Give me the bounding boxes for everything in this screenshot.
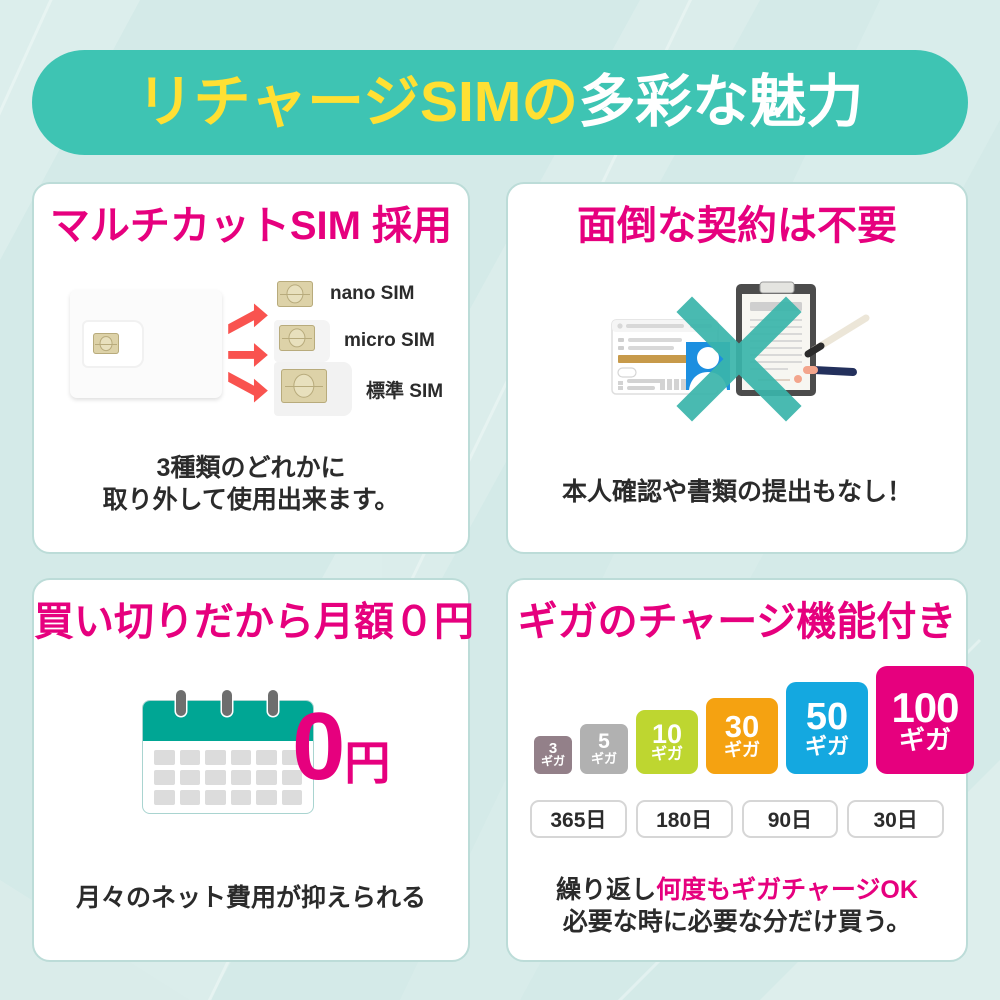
- giga-badge-number: 5: [598, 732, 610, 753]
- calendar-day-grid: [143, 741, 313, 814]
- sim-punch-outline: [84, 322, 142, 366]
- giga-options-illustration: 3 ギガ 5 ギガ 10 ギガ 30 ギガ 50 ギガ: [508, 672, 966, 852]
- nano-sim-icon: [274, 278, 316, 310]
- giga-badge-row: 3 ギガ 5 ギガ 10 ギガ 30 ギガ 50 ギガ: [534, 666, 940, 774]
- giga-badge-100[interactable]: 100 ギガ: [876, 666, 974, 774]
- sim-illustration: nano SIM micro SIM 標準 SIM: [34, 272, 468, 432]
- card-title-no-contract: 面倒な契約は不要: [508, 206, 966, 246]
- caption-plain: 繰り返し: [556, 876, 656, 904]
- duration-pill-30[interactable]: 30日: [847, 800, 944, 838]
- sim-option-nano: nano SIM: [274, 278, 414, 310]
- price-unit: 円: [344, 743, 390, 784]
- calendar-ring-icon: [222, 690, 232, 716]
- arrow-to-nano-icon: [228, 303, 268, 334]
- sim-chip-icon: [93, 333, 119, 354]
- nano-sim-label: nano SIM: [330, 283, 414, 305]
- giga-badge-unit: ギガ: [651, 747, 683, 763]
- calendar-illustration: 0 円: [34, 676, 468, 836]
- duration-pill-365[interactable]: 365日: [530, 800, 627, 838]
- standard-sim-icon: [274, 362, 352, 416]
- micro-sim-label: micro SIM: [344, 330, 435, 352]
- giga-badge-30[interactable]: 30 ギガ: [706, 698, 778, 774]
- giga-badge-unit: ギガ: [899, 728, 951, 753]
- card-caption-zero-monthly: 月々のネット費用が抑えられる: [34, 882, 468, 914]
- calendar-icon: [142, 690, 314, 814]
- documents-illustration: [508, 280, 966, 430]
- giga-badge-unit: ギガ: [724, 742, 760, 760]
- caption-line-2: 取り外して使用出来ます。: [34, 484, 468, 516]
- card-giga-charge: ギガのチャージ機能付き 3 ギガ 5 ギガ 10 ギガ 30 ギガ: [506, 578, 968, 962]
- card-caption-giga-charge: 繰り返し何度もギガチャージOK 必要な時に必要な分だけ買う。: [508, 874, 966, 938]
- giga-badge-unit: ギガ: [805, 736, 849, 758]
- header-banner: リチャージSIMの多彩な魅力: [32, 50, 968, 155]
- card-title-giga-charge: ギガのチャージ機能付き: [508, 602, 966, 642]
- giga-badge-3[interactable]: 3 ギガ: [534, 736, 572, 774]
- arrow-to-micro-icon: [228, 343, 268, 367]
- duration-pill-row: 365日 180日 90日 30日: [530, 800, 944, 838]
- price-zero-yen: 0 円: [292, 704, 390, 790]
- price-number: 0: [292, 704, 342, 790]
- calendar-ring-icon: [268, 690, 278, 716]
- giga-badge-50[interactable]: 50 ギガ: [786, 682, 868, 774]
- giga-badge-number: 100: [891, 687, 958, 728]
- card-caption-multi-cut-sim: 3種類のどれかに 取り外して使用出来ます。: [34, 452, 468, 516]
- giga-badge-number: 10: [652, 721, 682, 747]
- pen-icon-2: [807, 370, 853, 372]
- caption-line-1: 本人確認や書類の提出もなし！: [508, 476, 966, 508]
- infographic-root: リチャージSIMの多彩な魅力 マルチカットSIM 採用: [0, 0, 1000, 1000]
- standard-sim-label: 標準 SIM: [366, 376, 443, 403]
- pen-icon: [808, 318, 866, 354]
- arrow-to-standard-icon: [228, 372, 268, 403]
- giga-badge-10[interactable]: 10 ギガ: [636, 710, 698, 774]
- giga-badge-unit: ギガ: [541, 756, 565, 768]
- sim-option-micro: micro SIM: [274, 320, 435, 362]
- giga-badge-number: 50: [806, 699, 848, 736]
- caption-line-2: 必要な時に必要な分だけ買う。: [508, 906, 966, 938]
- card-title-multi-cut-sim: マルチカットSIM 採用: [34, 206, 468, 246]
- calendar-ring-icon: [176, 690, 186, 716]
- duration-pill-90[interactable]: 90日: [742, 800, 839, 838]
- micro-sim-icon: [274, 320, 330, 362]
- card-no-contract: 面倒な契約は不要: [506, 182, 968, 554]
- header-title: リチャージSIMの多彩な魅力: [137, 74, 864, 131]
- giga-badge-5[interactable]: 5 ギガ: [580, 724, 628, 774]
- card-zero-monthly: 買い切りだから月額０円 0 円: [32, 578, 470, 962]
- caption-line-1: 繰り返し何度もギガチャージOK: [508, 874, 966, 906]
- giga-badge-number: 30: [725, 712, 759, 742]
- header-title-highlight: リチャージSIMの: [137, 70, 579, 134]
- duration-pill-180[interactable]: 180日: [636, 800, 733, 838]
- card-caption-no-contract: 本人確認や書類の提出もなし！: [508, 476, 966, 508]
- sim-card-full: [70, 290, 222, 398]
- caption-highlight: 何度もギガチャージOK: [656, 876, 918, 904]
- card-title-zero-monthly: 買い切りだから月額０円: [34, 602, 468, 642]
- documents-svg: [508, 280, 970, 430]
- caption-line-1: 月々のネット費用が抑えられる: [34, 882, 468, 914]
- card-multi-cut-sim: マルチカットSIM 採用 nano SIM: [32, 182, 470, 554]
- giga-badge-unit: ギガ: [591, 753, 617, 766]
- caption-line-1: 3種類のどれかに: [34, 452, 468, 484]
- header-title-plain: 多彩な魅力: [578, 70, 863, 134]
- sim-option-standard: 標準 SIM: [274, 362, 443, 416]
